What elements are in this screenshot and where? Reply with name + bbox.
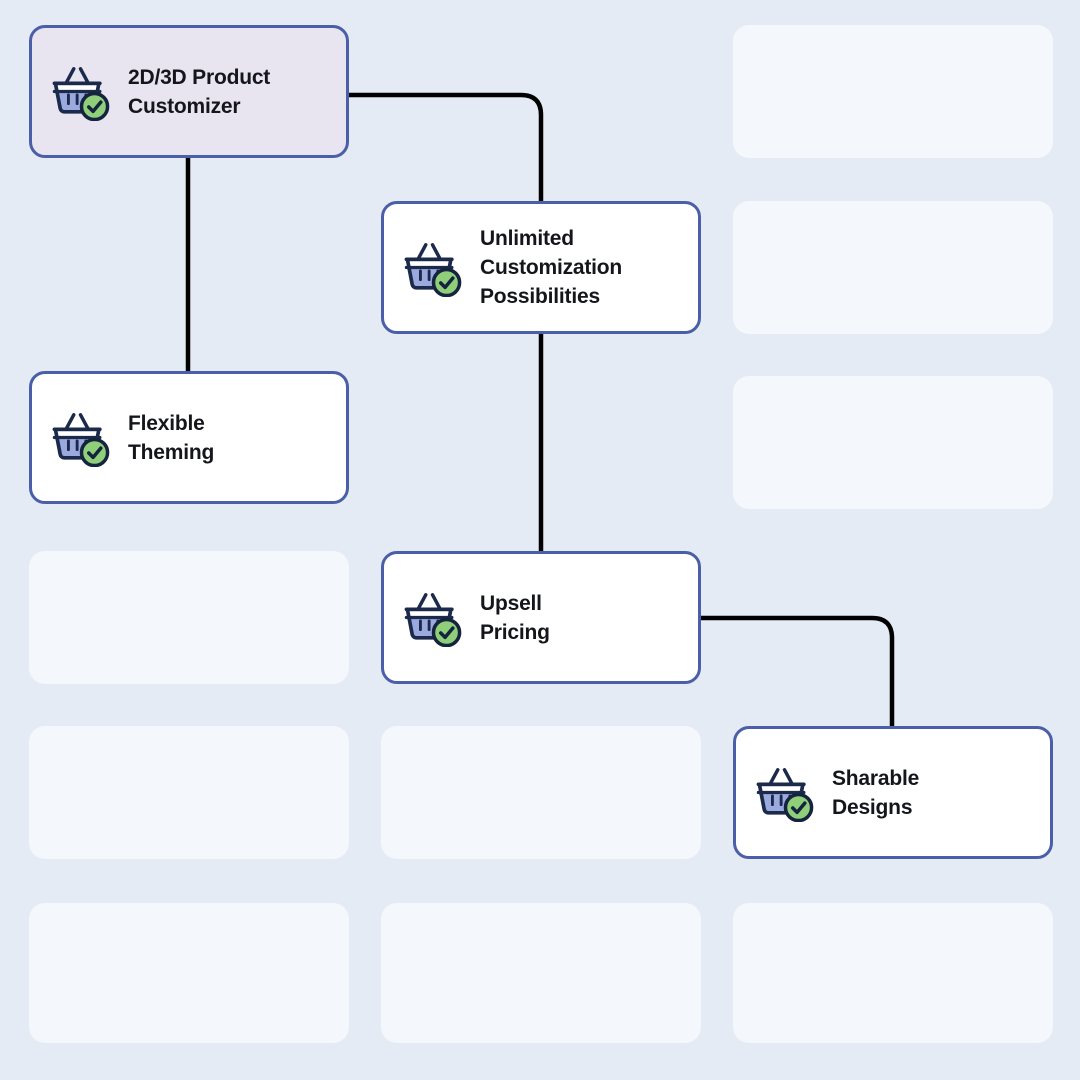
node-label: Unlimited Customization Possibilities bbox=[480, 224, 622, 311]
connector-customizer-to-unlimited bbox=[349, 95, 541, 201]
node-card[interactable]: Flexible Theming bbox=[29, 371, 349, 504]
shopping-basket-check-icon bbox=[754, 764, 816, 822]
placeholder-card bbox=[733, 201, 1053, 334]
shopping-basket-check-icon bbox=[402, 239, 464, 297]
node-label: Flexible Theming bbox=[128, 409, 214, 467]
shopping-basket-check-icon bbox=[402, 589, 464, 647]
placeholder-card bbox=[733, 25, 1053, 158]
placeholder-card bbox=[29, 903, 349, 1043]
node-card[interactable]: 2D/3D Product Customizer bbox=[29, 25, 349, 158]
placeholder-card bbox=[29, 726, 349, 859]
placeholder-card bbox=[381, 726, 701, 859]
node-card[interactable]: Sharable Designs bbox=[733, 726, 1053, 859]
node-label: Sharable Designs bbox=[832, 764, 919, 822]
shopping-basket-check-icon bbox=[50, 409, 112, 467]
node-card[interactable]: Upsell Pricing bbox=[381, 551, 701, 684]
diagram-canvas: 2D/3D Product CustomizerUnlimited Custom… bbox=[0, 0, 1080, 1080]
placeholder-card bbox=[733, 376, 1053, 509]
node-label: Upsell Pricing bbox=[480, 589, 550, 647]
node-label: 2D/3D Product Customizer bbox=[128, 63, 270, 121]
connector-upsell-to-sharable bbox=[701, 618, 892, 726]
placeholder-card bbox=[733, 903, 1053, 1043]
node-card[interactable]: Unlimited Customization Possibilities bbox=[381, 201, 701, 334]
placeholder-card bbox=[381, 903, 701, 1043]
placeholder-card bbox=[29, 551, 349, 684]
shopping-basket-check-icon bbox=[50, 63, 112, 121]
